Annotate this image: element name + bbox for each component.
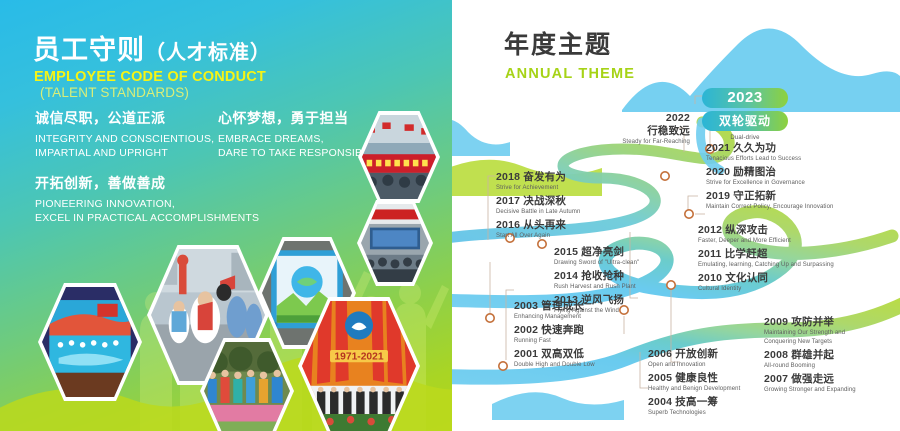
timeline-item-2002: 2002 快速奔跑 Running Fast bbox=[514, 324, 595, 346]
timeline-item-2015-title: 2015 超净亮剑 bbox=[554, 246, 639, 259]
timeline-item-2006: 2006 开放创新 Open and Innovation bbox=[648, 348, 740, 370]
creed-integrity-en1: INTEGRITY AND CONSCIENTIOUS, bbox=[35, 132, 214, 146]
creed-innovation-en1: PIONEERING INNOVATION, bbox=[35, 197, 259, 211]
timeline-item-2009-en: Maintaining Our Strength and Conquering … bbox=[764, 329, 860, 347]
right-title-chinese: 年度主题 bbox=[504, 25, 612, 61]
timeline-item-2006-title: 2006 开放创新 bbox=[648, 348, 740, 361]
photo-rally-banner-image bbox=[362, 115, 436, 199]
timeline-item-2022-en: Steady for Far-Reaching bbox=[550, 138, 690, 147]
left-title-english: EMPLOYEE CODE OF CONDUCT bbox=[34, 69, 266, 85]
timeline-item-2015-en: Drawing Sword of "Ultra-clean" bbox=[554, 259, 639, 268]
timeline-item-2022: 2022 行稳致远 Steady for Far-Reaching bbox=[550, 112, 690, 147]
group-2018-2016[interactable]: 2018 奋发有为 Strive for Achievement 2017 决战… bbox=[496, 171, 580, 243]
timeline-item-2014-title: 2014 抢收抢种 bbox=[554, 270, 639, 283]
group-2012-2010[interactable]: 2012 纵深攻击 Faster, Deeper and More Effici… bbox=[698, 224, 834, 296]
timeline-item-2021-en: Tenacious Efforts Lead to Success bbox=[706, 155, 833, 164]
creed-innovation: 开拓创新，善做善成 PIONEERING INNOVATION, EXCEL I… bbox=[35, 173, 259, 225]
timeline-item-2001-title: 2001 双高双低 bbox=[514, 348, 595, 361]
timeline-item-2012: 2012 纵深攻击 Faster, Deeper and More Effici… bbox=[698, 224, 834, 246]
timeline-item-2007-en: Growing Stronger and Expanding bbox=[764, 386, 860, 395]
timeline-item-2021: 2021 久久为功 Tenacious Efforts Lead to Succ… bbox=[706, 142, 833, 164]
group-2003-2001[interactable]: 2003 管理成长 Enhancing Management 2002 快速奔跑… bbox=[514, 300, 595, 372]
group-2009-2007[interactable]: 2009 攻防并举 Maintaining Our Strength and C… bbox=[764, 316, 860, 397]
timeline-item-2006-en: Open and Innovation bbox=[648, 361, 740, 370]
svg-text:1971-2021: 1971-2021 bbox=[334, 351, 383, 362]
timeline-item-2004-title: 2004 技高一筹 bbox=[648, 396, 740, 409]
timeline-item-2008-en: All-round Booming bbox=[764, 362, 860, 371]
left-title-chinese-paren: （人才标准） bbox=[145, 42, 271, 64]
creed-dreams-en1: EMBRACE DREAMS, bbox=[218, 132, 388, 146]
timeline-item-2005-title: 2005 健康良性 bbox=[648, 372, 740, 385]
timeline-item-2020-en: Strive for Excellence in Governance bbox=[706, 179, 833, 188]
left-panel: 员工守则（人才标准） EMPLOYEE CODE OF CONDUCT (TAL… bbox=[0, 0, 452, 431]
timeline-item-2007: 2007 做强走远 Growing Stronger and Expanding bbox=[764, 373, 860, 395]
timeline-item-2002-title: 2002 快速奔跑 bbox=[514, 324, 595, 337]
timeline-item-2019-en: Maintain Correct Policy, Encourage Innov… bbox=[706, 203, 833, 212]
creed-dreams-cn: 心怀梦想，勇于担当 bbox=[218, 108, 388, 128]
timeline-item-2018: 2018 奋发有为 Strive for Achievement bbox=[496, 171, 580, 193]
timeline-item-2018-title: 2018 奋发有为 bbox=[496, 171, 580, 184]
timeline-item-2004: 2004 技高一筹 Superb Technologies bbox=[648, 396, 740, 418]
timeline-item-2011-en: Emulating, learning, Catching Up and Sur… bbox=[698, 261, 834, 270]
timeline-item-2005-en: Healthy and Benign Development bbox=[648, 385, 740, 394]
timeline-item-2005: 2005 健康良性 Healthy and Benign Development bbox=[648, 372, 740, 394]
timeline-item-2011-title: 2011 比学赶超 bbox=[698, 248, 834, 261]
timeline-item-2022-cn: 行稳致远 bbox=[550, 125, 690, 138]
group-2022[interactable]: 2022 行稳致远 Steady for Far-Reaching bbox=[550, 112, 690, 149]
creed-integrity-en2: IMPARTIAL AND UPRIGHT bbox=[35, 146, 214, 160]
timeline-item-2009: 2009 攻防并举 Maintaining Our Strength and C… bbox=[764, 316, 860, 347]
timeline-item-2009-title: 2009 攻防并举 bbox=[764, 316, 860, 329]
timeline-item-2021-title: 2021 久久为功 bbox=[706, 142, 833, 155]
timeline-item-2019: 2019 守正拓新 Maintain Correct Policy, Encou… bbox=[706, 190, 833, 212]
photo-dragon-boat-mural-image bbox=[42, 287, 138, 397]
right-panel: 年度主题 ANNUAL THEME 2023 双轮驱动 Dual-drive 2… bbox=[452, 0, 900, 431]
timeline-item-2015: 2015 超净亮剑 Drawing Sword of "Ultra-clean" bbox=[554, 246, 639, 268]
creed-integrity: 诚信尽职，公道正派 INTEGRITY AND CONSCIENTIOUS, I… bbox=[35, 108, 214, 160]
group-2006-2004[interactable]: 2006 开放创新 Open and Innovation 2005 健康良性 … bbox=[648, 348, 740, 420]
photo-group-gathering-image bbox=[204, 342, 290, 431]
photo-anniversary-stage-image: 1971-2021 bbox=[302, 301, 416, 431]
timeline-item-2018-en: Strive for Achievement bbox=[496, 184, 580, 193]
badge-2023[interactable]: 2023 双轮驱动 Dual-drive bbox=[702, 88, 788, 141]
group-2021-2019[interactable]: 2021 久久为功 Tenacious Efforts Lead to Succ… bbox=[706, 142, 833, 214]
timeline-item-2020-title: 2020 励精图治 bbox=[706, 166, 833, 179]
timeline-item-2003: 2003 管理成长 Enhancing Management bbox=[514, 300, 595, 322]
timeline-item-2016: 2016 从头再来 Start All Over Again bbox=[496, 219, 580, 241]
timeline-item-2001-en: Double High and Double Low bbox=[514, 361, 595, 370]
timeline-item-2010-en: Cultural Identity bbox=[698, 285, 834, 294]
timeline-item-2011: 2011 比学赶超 Emulating, learning, Catching … bbox=[698, 248, 834, 270]
timeline-item-2016-en: Start All Over Again bbox=[496, 232, 580, 241]
badge-2023-theme-cn: 双轮驱动 bbox=[702, 111, 788, 131]
timeline-item-2008: 2008 群雄并起 All-round Booming bbox=[764, 349, 860, 371]
timeline-item-2002-en: Running Fast bbox=[514, 337, 595, 346]
creed-integrity-cn: 诚信尽职，公道正派 bbox=[35, 108, 214, 128]
poster-page: 员工守则（人才标准） EMPLOYEE CODE OF CONDUCT (TAL… bbox=[0, 0, 900, 431]
timeline-item-2014: 2014 抢收抢种 Rush Harvest and Rush Plant bbox=[554, 270, 639, 292]
timeline-item-2020: 2020 励精图治 Strive for Excellence in Gover… bbox=[706, 166, 833, 188]
timeline-item-2012-en: Faster, Deeper and More Efficient bbox=[698, 237, 834, 246]
timeline-item-2016-title: 2016 从头再来 bbox=[496, 219, 580, 232]
timeline-item-2022-year: 2022 bbox=[550, 112, 690, 125]
left-title-english-sub: (TALENT STANDARDS) bbox=[40, 85, 189, 100]
timeline-item-2001: 2001 双高双低 Double High and Double Low bbox=[514, 348, 595, 370]
left-title-chinese-main: 员工守则 bbox=[33, 35, 145, 65]
timeline-item-2007-title: 2007 做强走远 bbox=[764, 373, 860, 386]
creed-innovation-en2: EXCEL IN PRACTICAL ACCOMPLISHMENTS bbox=[35, 211, 259, 225]
left-title-chinese: 员工守则（人才标准） bbox=[33, 28, 271, 67]
timeline-item-2003-title: 2003 管理成长 bbox=[514, 300, 595, 313]
timeline-item-2019-title: 2019 守正拓新 bbox=[706, 190, 833, 203]
photo-conference-hall-image bbox=[361, 204, 429, 282]
timeline-item-2017: 2017 决战深秋 Decisive Battle in Late Autumn bbox=[496, 195, 580, 217]
timeline-item-2017-en: Decisive Battle in Late Autumn bbox=[496, 208, 580, 217]
timeline-item-2008-title: 2008 群雄并起 bbox=[764, 349, 860, 362]
timeline-item-2014-en: Rush Harvest and Rush Plant bbox=[554, 283, 639, 292]
timeline-item-2010: 2010 文化认同 Cultural Identity bbox=[698, 272, 834, 294]
timeline-item-2017-title: 2017 决战深秋 bbox=[496, 195, 580, 208]
timeline-item-2012-title: 2012 纵深攻击 bbox=[698, 224, 834, 237]
badge-2023-theme-en: Dual-drive bbox=[702, 135, 788, 141]
right-title-english: ANNUAL THEME bbox=[505, 66, 635, 82]
creed-innovation-cn: 开拓创新，善做善成 bbox=[35, 173, 259, 193]
timeline-item-2004-en: Superb Technologies bbox=[648, 409, 740, 418]
timeline-item-2010-title: 2010 文化认同 bbox=[698, 272, 834, 285]
badge-2023-year: 2023 bbox=[702, 88, 788, 108]
timeline-item-2003-en: Enhancing Management bbox=[514, 313, 595, 322]
